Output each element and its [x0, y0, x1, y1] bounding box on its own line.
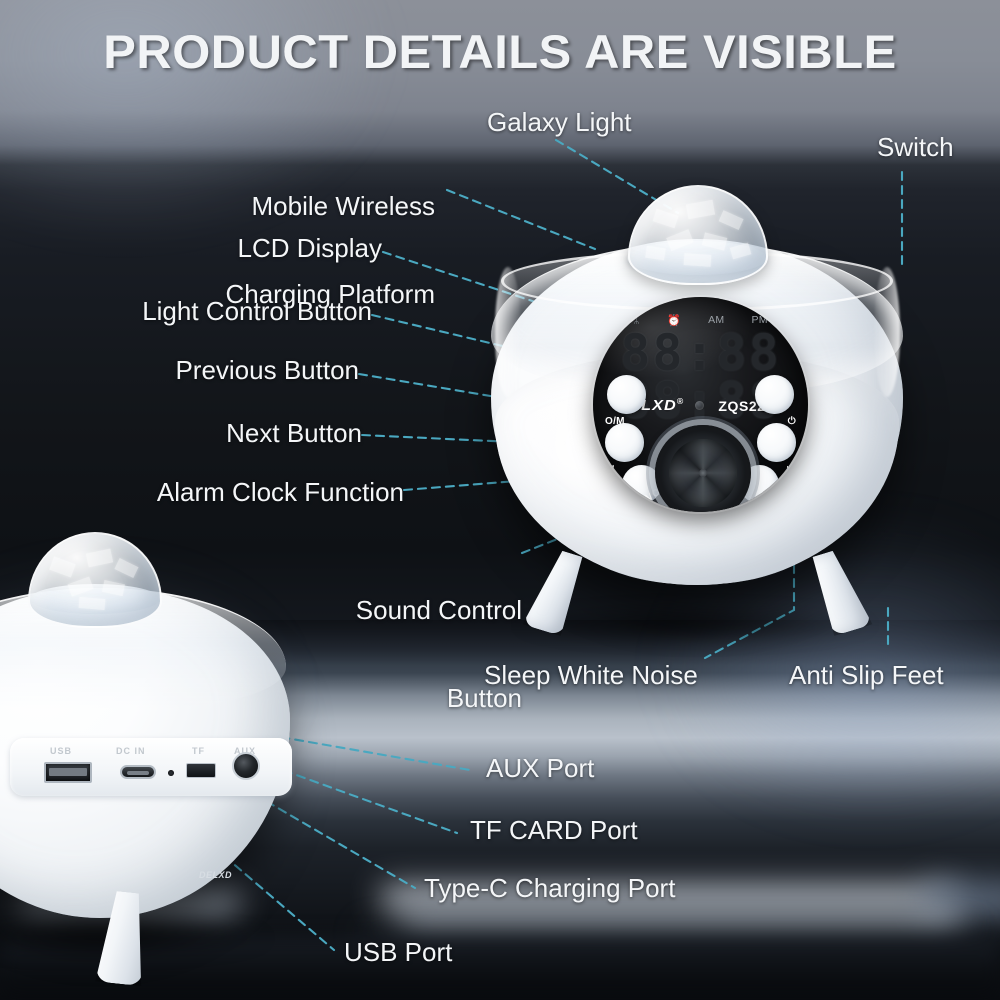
knob-center [699, 469, 707, 477]
rear-view-speaker-product: USB DC IN TF AUX DELXD [0, 540, 310, 1000]
previous-button[interactable] [605, 423, 644, 462]
band-highlight-right [874, 267, 900, 397]
callout-anti-slip-feet: Anti Slip Feet [789, 661, 944, 690]
volume-knob[interactable] [655, 425, 751, 512]
aux-port[interactable] [232, 752, 260, 780]
callout-light-control-button: Light Control Button [142, 297, 372, 326]
noise-button-label: NS [767, 500, 782, 511]
rear-brand-logo: DELXD [199, 870, 232, 880]
rear-galaxy-light-dome [28, 532, 162, 628]
mode-button[interactable] [607, 375, 646, 414]
callout-switch: Switch [877, 133, 954, 162]
main-speaker-product: ᛦ ⏰ AM PM 88:88 88:88 DELXD® ZQS2226 O/M… [485, 233, 910, 623]
product-infographic: PRODUCT DETAILS ARE VISIBLE [0, 0, 1000, 1000]
callout-alarm-clock-function: Alarm Clock Function [157, 478, 404, 507]
microphone-hole [695, 401, 704, 410]
main-speaker-shadow [515, 605, 875, 645]
tf-card-port[interactable] [186, 763, 216, 778]
previous-button-label: ⏮ [605, 463, 614, 474]
rear-dome-facets [30, 534, 160, 626]
callout-tf-card-port: TF CARD Port [470, 816, 638, 845]
type-c-port[interactable] [120, 765, 156, 779]
lcd-time-top: 88:88 [593, 330, 808, 378]
callout-aux-port: AUX Port [486, 754, 594, 783]
next-button[interactable] [757, 423, 796, 462]
mode-button-label: O/M [605, 416, 625, 427]
band-highlight-left [495, 267, 521, 397]
next-button-label: ⏭ [787, 463, 796, 474]
callout-type-c-charging-port: Type-C Charging Port [424, 874, 675, 903]
dome-facets [630, 187, 766, 283]
callout-previous-button: Previous Button [175, 356, 359, 385]
callout-mobile-wireless-charging-platform-line1: Mobile Wireless [225, 192, 435, 221]
callout-galaxy-light: Galaxy Light [487, 108, 632, 137]
callout-sound-control-button-line1: Sound Control [356, 596, 522, 625]
dc-in-port-marking: DC IN [116, 746, 146, 756]
tf-port-marking: TF [192, 746, 205, 756]
usb-port[interactable] [44, 762, 92, 783]
callout-lcd-display: LCD Display [238, 234, 383, 263]
reset-pinhole [168, 770, 174, 776]
alarm-button-label: ⏰ [624, 500, 637, 511]
callout-sleep-white-noise: Sleep White Noise [484, 661, 698, 690]
galaxy-light-dome[interactable] [628, 185, 768, 285]
callout-next-button: Next Button [226, 419, 362, 448]
callout-usb-port: USB Port [344, 938, 452, 967]
power-button[interactable] [755, 375, 794, 414]
control-panel: ᛦ ⏰ AM PM 88:88 88:88 DELXD® ZQS2226 O/M… [593, 297, 808, 512]
usb-port-marking: USB [50, 746, 72, 756]
callout-sound-control-button: Sound Control Button [356, 538, 522, 771]
power-button-label: ⏻ [788, 416, 796, 427]
